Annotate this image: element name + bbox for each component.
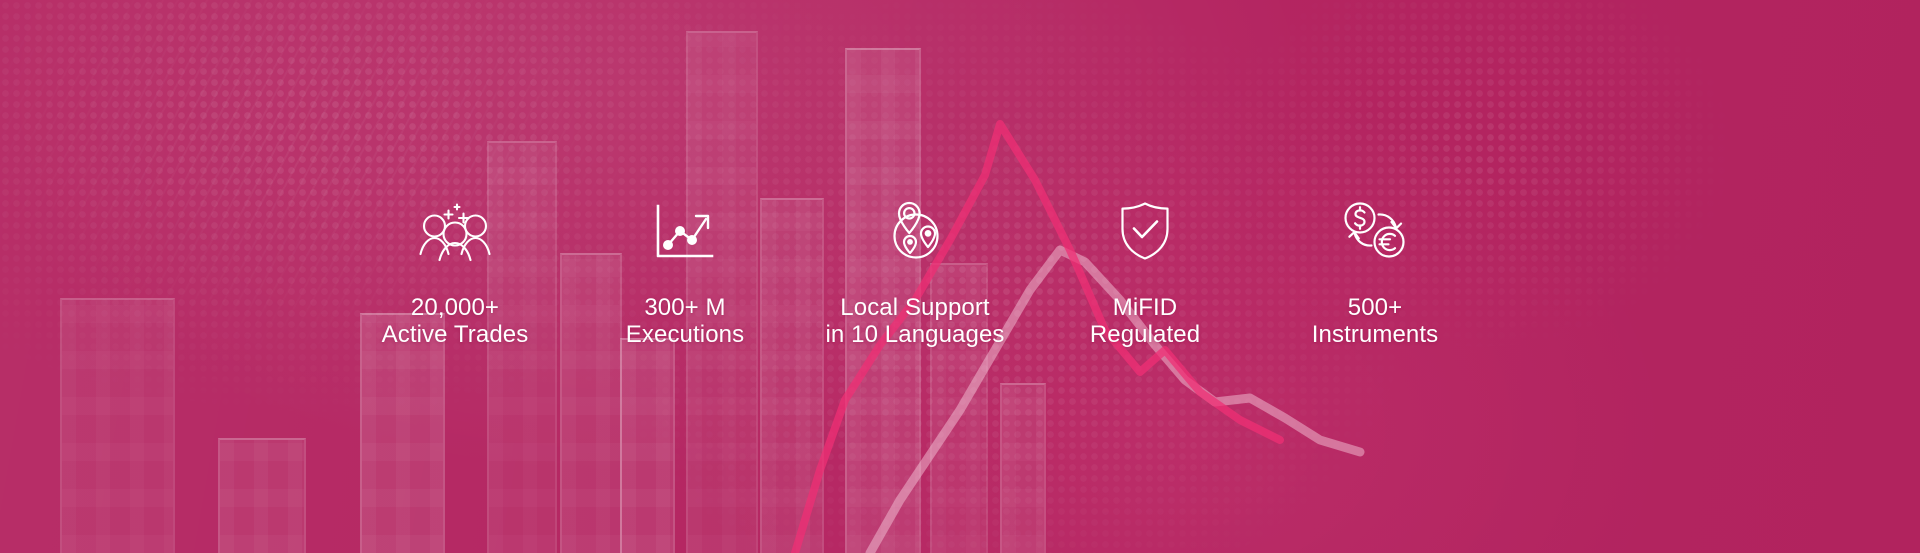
stat-line2: in 10 Languages <box>826 321 1005 348</box>
stat-label-instruments: 500+ Instruments <box>1312 294 1438 348</box>
stat-item-active-trades: 20,000+ Active Trades <box>340 198 570 348</box>
stat-line2: Active Trades <box>382 321 529 348</box>
stat-line1: MiFID <box>1113 294 1177 321</box>
stat-item-mifid: MiFID Regulated <box>1030 198 1260 348</box>
stat-label-active-trades: 20,000+ Active Trades <box>382 294 529 348</box>
stat-item-instruments: 500+ Instruments <box>1260 198 1490 348</box>
stat-line1: Local Support <box>840 294 989 321</box>
stat-line2: Instruments <box>1312 321 1438 348</box>
globe-map-pins-icon <box>878 198 952 260</box>
stats-banner: 20,000+ Active Trades <box>0 0 1920 553</box>
stat-line1: 300+ M <box>644 294 725 321</box>
stat-line1: 500+ <box>1348 294 1402 321</box>
stat-item-executions: 300+ M Executions <box>570 198 800 348</box>
people-group-icon <box>418 198 492 260</box>
stat-item-local-support: Local Support in 10 Languages <box>800 198 1030 348</box>
currency-exchange-icon <box>1338 198 1412 260</box>
stat-line2: Executions <box>626 321 744 348</box>
stat-label-mifid: MiFID Regulated <box>1090 294 1200 348</box>
stats-row: 20,000+ Active Trades <box>0 0 1920 553</box>
stat-line2: Regulated <box>1090 321 1200 348</box>
stat-label-executions: 300+ M Executions <box>626 294 744 348</box>
stat-line1: 20,000+ <box>411 294 499 321</box>
stat-label-local-support: Local Support in 10 Languages <box>826 294 1005 348</box>
line-chart-growth-icon <box>648 198 722 260</box>
shield-check-icon <box>1108 198 1182 260</box>
